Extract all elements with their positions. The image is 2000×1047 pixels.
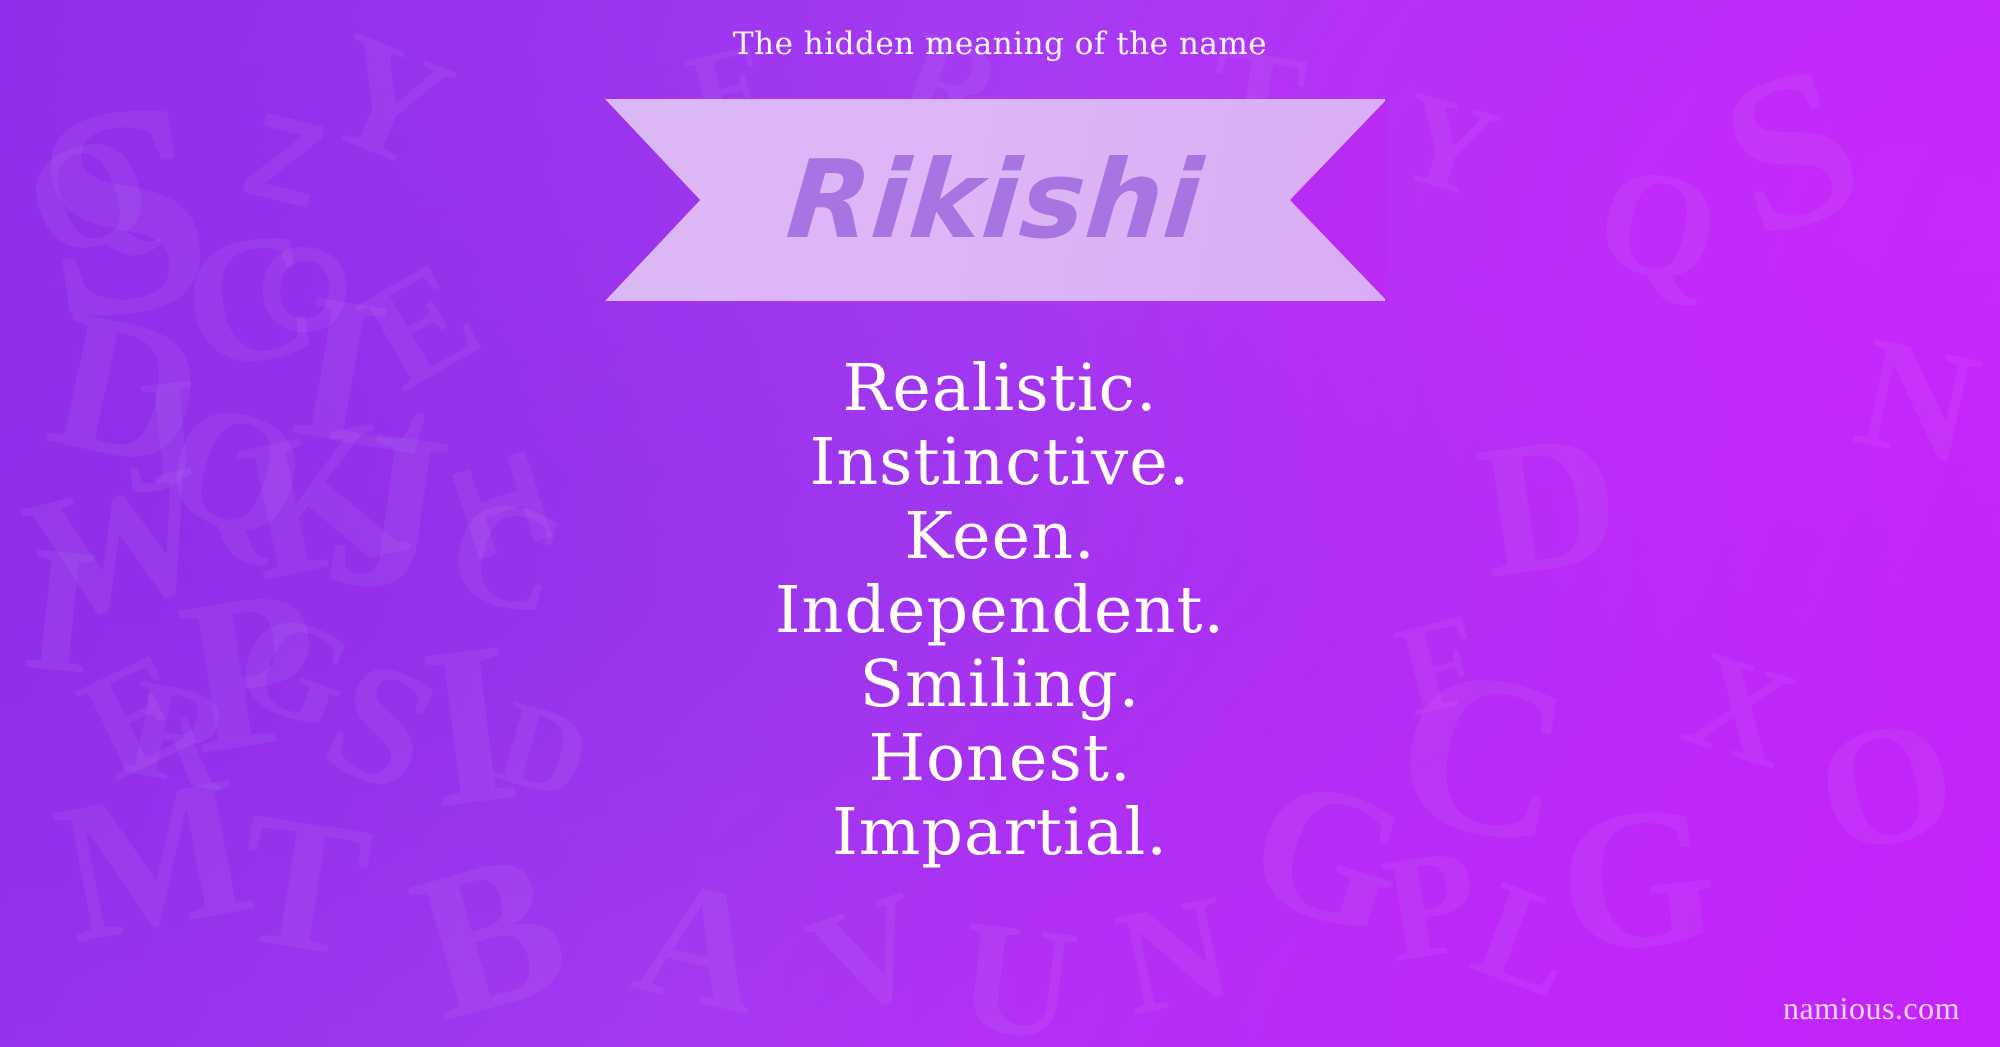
trait-item: Realistic. <box>0 352 2000 426</box>
background-letter: A <box>622 848 780 1041</box>
trait-item: Impartial. <box>0 796 2000 870</box>
background-letter: N <box>1106 870 1243 1039</box>
trait-item: Instinctive. <box>0 426 2000 500</box>
trait-item: Keen. <box>0 500 2000 574</box>
background-letter: S <box>1699 26 1883 273</box>
trait-item: Smiling. <box>0 648 2000 722</box>
trait-item: Independent. <box>0 574 2000 648</box>
background-letter: U <box>951 894 1085 1047</box>
name-text: Rikishi <box>596 99 1394 301</box>
background-letter: Q <box>1587 140 1730 310</box>
page-title: The hidden meaning of the name <box>0 26 2000 62</box>
trait-item: Honest. <box>0 722 2000 796</box>
background-letter: Y <box>1384 70 1510 221</box>
trait-list: Realistic.Instinctive.Keen.Independent.S… <box>0 352 2000 870</box>
background-letter: V <box>793 866 946 1044</box>
site-watermark: namious.com <box>1783 990 1960 1027</box>
name-meaning-card: SZQYCOELDJQKJHCWIPGERSIDMTBAVUNGPLFCGXOQ… <box>0 0 2000 1047</box>
